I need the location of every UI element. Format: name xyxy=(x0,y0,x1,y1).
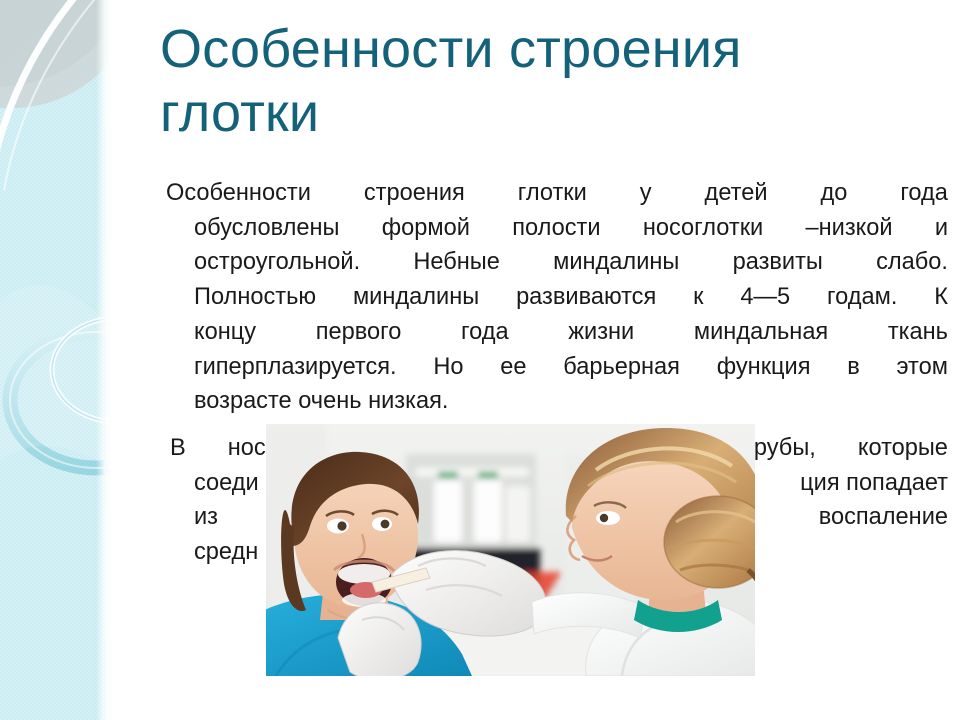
word: к xyxy=(693,280,703,315)
word: года xyxy=(900,176,948,211)
paragraph-1-line-4: Полностью миндалины развиваются к 4—5 го… xyxy=(166,280,948,315)
word: развиваются xyxy=(516,280,656,315)
word: года xyxy=(461,315,509,350)
word: функция xyxy=(717,350,811,385)
word: развиты xyxy=(733,245,823,280)
paragraph-1-line-1: Особенности строения глотки у детей до г… xyxy=(166,176,948,211)
word: остроугольной. xyxy=(194,245,360,280)
word: в xyxy=(847,350,860,385)
word: и xyxy=(935,211,948,246)
slide-title: Особенности строения глотки xyxy=(160,18,960,145)
word: К xyxy=(934,280,948,315)
word: строения xyxy=(364,176,465,211)
word: воспаление xyxy=(819,500,948,535)
paragraph-1-line-7: возрасте очень низкая. xyxy=(166,384,948,419)
word: глотки xyxy=(518,176,587,211)
word: соеди xyxy=(194,466,259,501)
throat-examination-photo xyxy=(266,424,755,676)
paragraph-1-line-2: обусловлены формой полости носоглотки –н… xyxy=(166,211,948,246)
word: этом xyxy=(897,350,948,385)
word: которые xyxy=(858,431,948,466)
decorative-sidebar xyxy=(0,0,112,720)
word: формой xyxy=(382,211,470,246)
word: В xyxy=(170,431,186,466)
word: жизни xyxy=(568,315,634,350)
word: Небные xyxy=(413,245,500,280)
word: детей xyxy=(705,176,768,211)
paragraph-1-line-3: остроугольной. Небные миндалины развиты … xyxy=(166,245,948,280)
word: у xyxy=(640,176,652,211)
word: ция попадает xyxy=(800,466,948,501)
word: концу xyxy=(194,315,256,350)
word: ткань xyxy=(888,315,948,350)
word: Полностью xyxy=(194,280,316,315)
word: барьерная xyxy=(563,350,680,385)
word: годам. xyxy=(827,280,897,315)
word: гиперплазируется. xyxy=(194,350,397,385)
paragraph-1-line-6: гиперплазируется. Но ее барьерная функци… xyxy=(166,350,948,385)
photo-illustration xyxy=(266,424,755,676)
word: 4—5 xyxy=(740,280,790,315)
paragraph-1-line-5: концу первого года жизни миндальная ткан… xyxy=(166,315,948,350)
word: миндальная xyxy=(694,315,828,350)
slide-title-line-1: Особенности строения xyxy=(160,18,960,82)
word: ее xyxy=(500,350,526,385)
slide-title-line-2: глотки xyxy=(160,82,960,146)
body-paragraph-1: Особенности строения глотки у детей до г… xyxy=(166,176,948,419)
word: полости xyxy=(512,211,600,246)
word: миндалины xyxy=(353,280,479,315)
word: Особенности xyxy=(166,176,311,211)
presentation-slide: Особенности строения глотки Особенности … xyxy=(0,0,960,720)
glove-lower xyxy=(338,603,421,676)
word: –низкой xyxy=(805,211,892,246)
word: обусловлены xyxy=(194,211,339,246)
word: из xyxy=(194,500,218,535)
word: носоглотки xyxy=(643,211,763,246)
sidebar-fade-overlay xyxy=(96,0,112,720)
word: миндалины xyxy=(553,245,679,280)
word: первого xyxy=(316,315,402,350)
word: Но xyxy=(433,350,463,385)
word: до xyxy=(820,176,847,211)
word: слабо. xyxy=(876,245,948,280)
